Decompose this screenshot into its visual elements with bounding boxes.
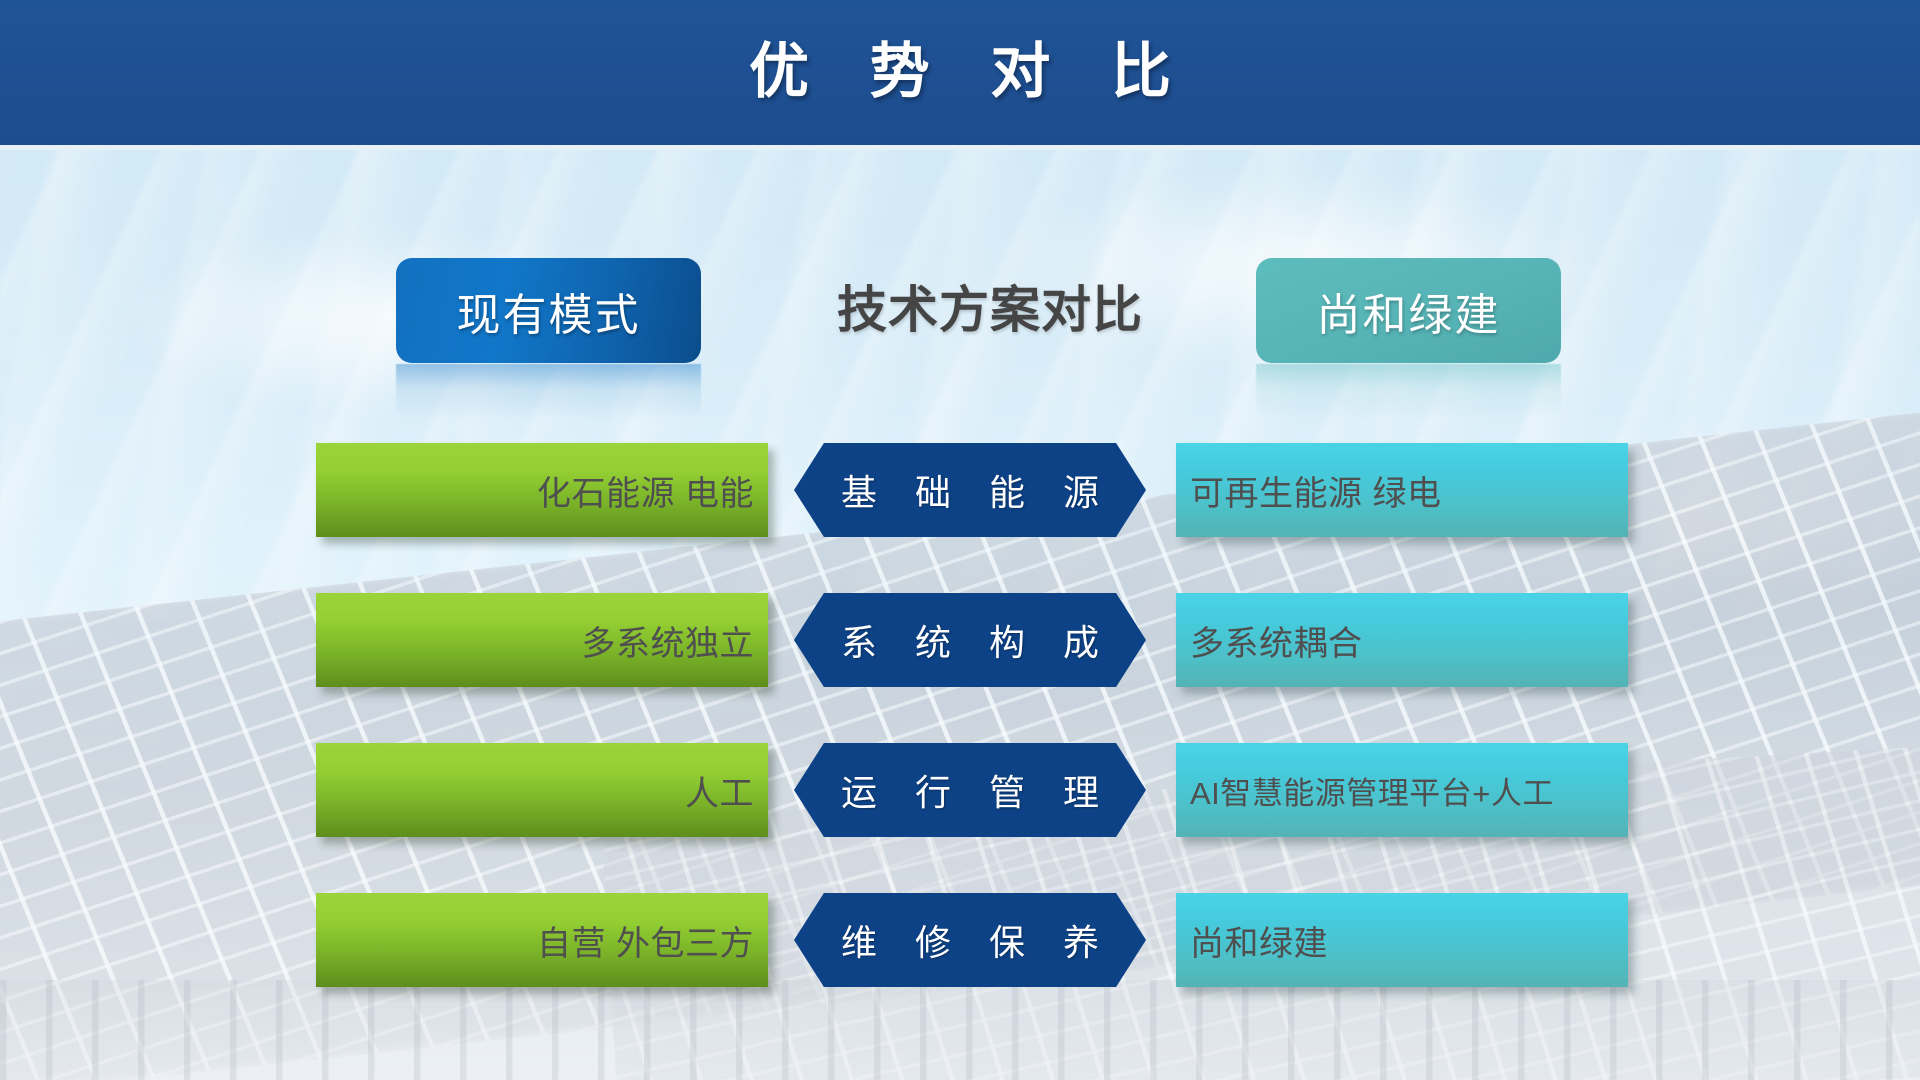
header-existing-mode-label: 现有模式 [457, 279, 641, 343]
row-left-bar[interactable]: 多系统独立 [316, 593, 768, 687]
row-category-label: 基 础 能 源 [827, 464, 1113, 516]
row-right-label: 尚和绿建 [1190, 916, 1328, 965]
header-comparison-title: 技术方案对比 [730, 262, 1250, 358]
row-category-label: 维 修 保 养 [827, 914, 1113, 966]
page-title: 优 势 对 比 [0, 22, 1920, 122]
row-left-label: 自营 外包三方 [537, 916, 754, 965]
existing-mode-reflection [396, 364, 701, 419]
row-left-label: 化石能源 电能 [537, 466, 754, 515]
comparison-row: 化石能源 电能 基 础 能 源 可再生能源 绿电 [0, 443, 1920, 543]
row-right-bar[interactable]: 尚和绿建 [1176, 893, 1628, 987]
row-right-label: 可再生能源 绿电 [1190, 466, 1441, 515]
row-category-label: 运 行 管 理 [827, 764, 1113, 816]
header-existing-mode[interactable]: 现有模式 [396, 258, 701, 363]
row-left-label: 多系统独立 [582, 616, 755, 665]
row-category-chevron[interactable]: 运 行 管 理 [794, 743, 1146, 837]
row-category-chevron[interactable]: 维 修 保 养 [794, 893, 1146, 987]
row-category-chevron[interactable]: 系 统 构 成 [794, 593, 1146, 687]
header-shanghe-green-label: 尚和绿建 [1317, 279, 1501, 343]
shanghe-green-reflection [1256, 364, 1561, 419]
row-category-chevron[interactable]: 基 础 能 源 [794, 443, 1146, 537]
comparison-row: 人工 运 行 管 理 AI智慧能源管理平台+人工 [0, 743, 1920, 843]
comparison-row: 自营 外包三方 维 修 保 养 尚和绿建 [0, 893, 1920, 993]
slide-root: 优 势 对 比 现有模式 技术方案对比 尚和绿建 化石能源 电能 基 础 能 源… [0, 0, 1920, 1080]
header-shanghe-green[interactable]: 尚和绿建 [1256, 258, 1561, 363]
row-category-label: 系 统 构 成 [827, 614, 1113, 666]
row-left-bar[interactable]: 化石能源 电能 [316, 443, 768, 537]
row-right-bar[interactable]: AI智慧能源管理平台+人工 [1176, 743, 1628, 837]
row-right-label: 多系统耦合 [1190, 616, 1363, 665]
row-right-bar[interactable]: 多系统耦合 [1176, 593, 1628, 687]
row-left-bar[interactable]: 人工 [316, 743, 768, 837]
row-left-bar[interactable]: 自营 外包三方 [316, 893, 768, 987]
row-right-bar[interactable]: 可再生能源 绿电 [1176, 443, 1628, 537]
comparison-row: 多系统独立 系 统 构 成 多系统耦合 [0, 593, 1920, 693]
row-right-label: AI智慧能源管理平台+人工 [1190, 768, 1554, 813]
row-left-label: 人工 [685, 766, 754, 815]
